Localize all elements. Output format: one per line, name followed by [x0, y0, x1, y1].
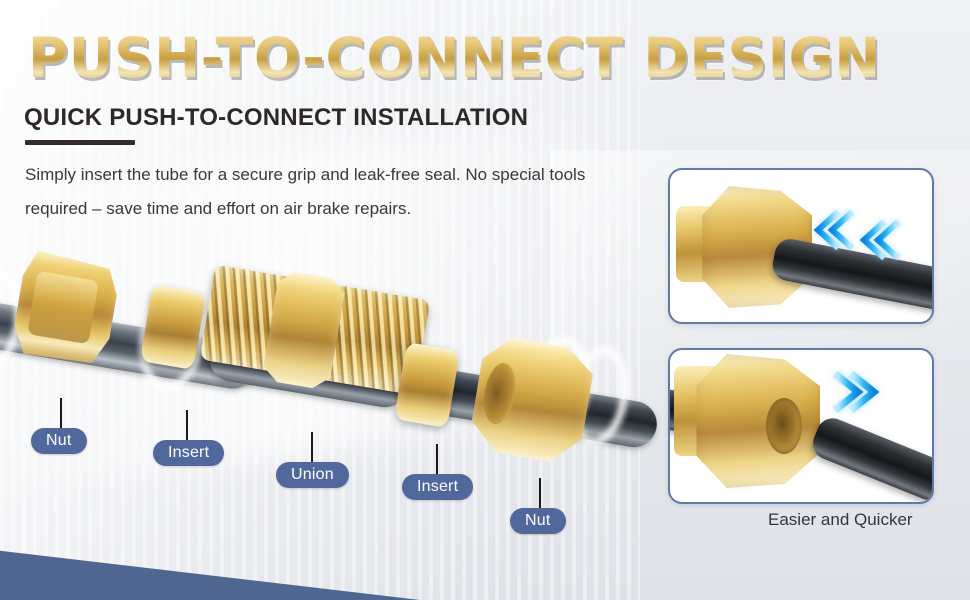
panel-caption: Easier and Quicker: [768, 510, 913, 530]
leader-line-nut-left: [60, 398, 62, 428]
callout-nut-left: Nut: [31, 428, 87, 454]
bottom-accent-wedge: [0, 540, 420, 600]
callout-insert-left: Insert: [153, 440, 224, 466]
product-assembly-illustration: [0, 236, 650, 466]
title-underline-rule: [25, 140, 135, 145]
chevron-double-left-icon: [856, 218, 934, 262]
callout-union: Union: [276, 462, 349, 488]
leader-line-insert-left: [186, 410, 188, 440]
body-paragraph: Simply insert the tube for a secure grip…: [25, 158, 595, 226]
panel-bottom-tube-right: [808, 414, 934, 504]
chevron-double-right-icon: [828, 368, 908, 416]
callout-nut-right: Nut: [510, 508, 566, 534]
panel-bottom-fitting-bore: [766, 398, 802, 454]
leader-line-nut-right: [539, 478, 541, 508]
callout-insert-right: Insert: [402, 474, 473, 500]
infographic-canvas: PUSH-TO-CONNECT DESIGN QUICK PUSH-TO-CON…: [0, 0, 970, 600]
leader-line-insert-right: [436, 444, 438, 474]
detail-panel-open-bore: [668, 348, 934, 504]
page-title: PUSH-TO-CONNECT DESIGN: [28, 26, 881, 90]
section-subtitle: QUICK PUSH-TO-CONNECT INSTALLATION: [24, 104, 528, 132]
brass-nut-right: [467, 334, 597, 467]
detail-panel-inserted: [668, 168, 934, 324]
leader-line-union: [311, 432, 313, 462]
